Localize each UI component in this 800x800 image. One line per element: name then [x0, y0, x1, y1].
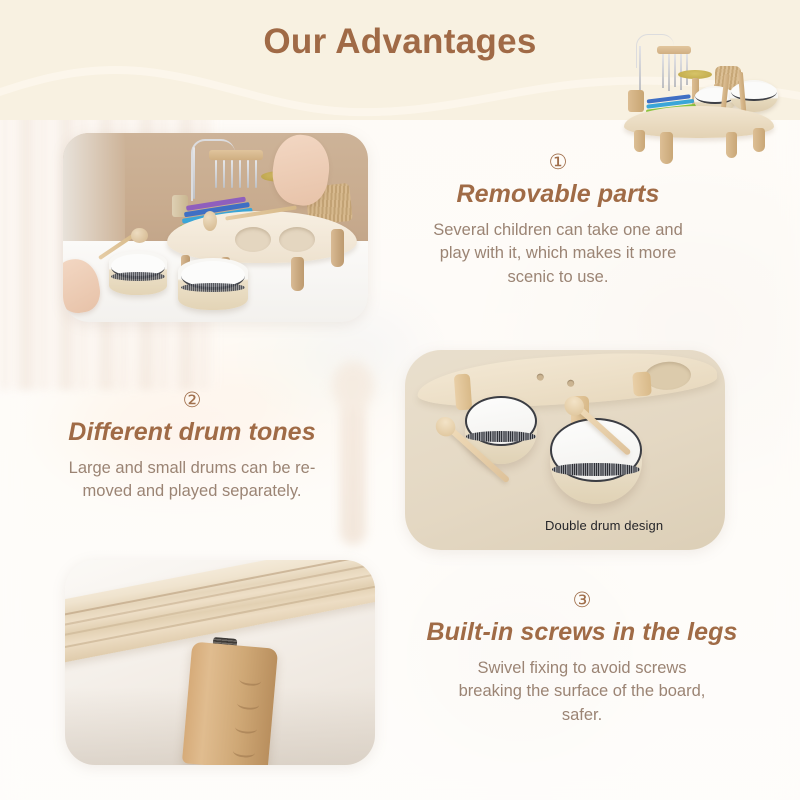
photo1-chime-bar	[209, 150, 263, 160]
photo1-drum-hole	[235, 227, 271, 252]
photo-built-in-screw	[65, 560, 375, 765]
page-title: Our Advantages	[0, 22, 800, 62]
photo-removable-parts	[63, 133, 368, 322]
advantage-number-3: ③	[372, 590, 792, 611]
hero-cup	[628, 90, 644, 112]
advantage-heading-1: Removable parts	[383, 180, 733, 209]
photo1-chime	[215, 160, 217, 188]
advantage-body-line: breaking the surface of the board,	[372, 680, 792, 703]
photo3-table-leg	[182, 641, 278, 765]
advantage-block-drum-tones: ② Different drum tones Large and small d…	[18, 390, 366, 504]
photo1-drum-small	[109, 251, 167, 295]
photo2-drum-large	[550, 418, 642, 504]
photo1-chime	[231, 160, 233, 188]
advantage-body-line: scenic to use.	[383, 266, 733, 289]
hero-drum-large	[730, 80, 778, 112]
advantage-number-2: ②	[18, 390, 366, 411]
photo1-chime	[255, 160, 257, 188]
advantage-body-line: Several children can take one and	[383, 219, 733, 242]
infographic-page: Our Advantages	[0, 0, 800, 800]
advantage-body-line: safer.	[372, 704, 792, 727]
photo1-chime-hook	[191, 139, 235, 201]
photo1-chime	[223, 160, 225, 188]
advantage-body-line: play with it, which makes it more	[383, 242, 733, 265]
hero-table-leg	[634, 130, 645, 152]
advantage-heading-2: Different drum tones	[18, 418, 366, 447]
photo2-table-leg	[632, 371, 652, 396]
photo-double-drum: Double drum design	[405, 350, 725, 550]
advantage-body-3: Swivel fixing to avoid screws breaking t…	[372, 657, 792, 727]
photo2-caption: Double drum design	[545, 518, 663, 533]
advantage-body-line: Swivel fixing to avoid screws	[372, 657, 792, 680]
advantage-body-1: Several children can take one and play w…	[383, 219, 733, 289]
advantage-block-removable: ① Removable parts Several children can t…	[383, 152, 733, 289]
advantage-body-2: Large and small drums can be re- moved a…	[18, 457, 366, 504]
advantage-block-built-in-screws: ③ Built-in screws in the legs Swivel fix…	[372, 590, 792, 727]
photo1-chime-rod	[193, 147, 195, 199]
photo1-drum-hole	[279, 227, 315, 252]
photo2-table-leg	[454, 373, 472, 410]
photo1-chime	[247, 160, 249, 188]
advantage-heading-3: Built-in screws in the legs	[372, 618, 792, 647]
photo1-chime	[239, 160, 241, 188]
hero-table-leg	[660, 132, 673, 164]
photo1-mallet-head	[203, 211, 217, 231]
photo1-drum-large	[178, 258, 248, 310]
photo1-mallet-head	[131, 228, 148, 243]
photo1-table-leg	[331, 229, 344, 267]
hero-table-leg	[726, 132, 737, 158]
photo1-table-leg	[291, 257, 304, 291]
advantage-body-line: moved and played separately.	[18, 480, 366, 503]
hero-table-leg	[753, 128, 765, 152]
advantage-body-line: Large and small drums can be re-	[18, 457, 366, 480]
